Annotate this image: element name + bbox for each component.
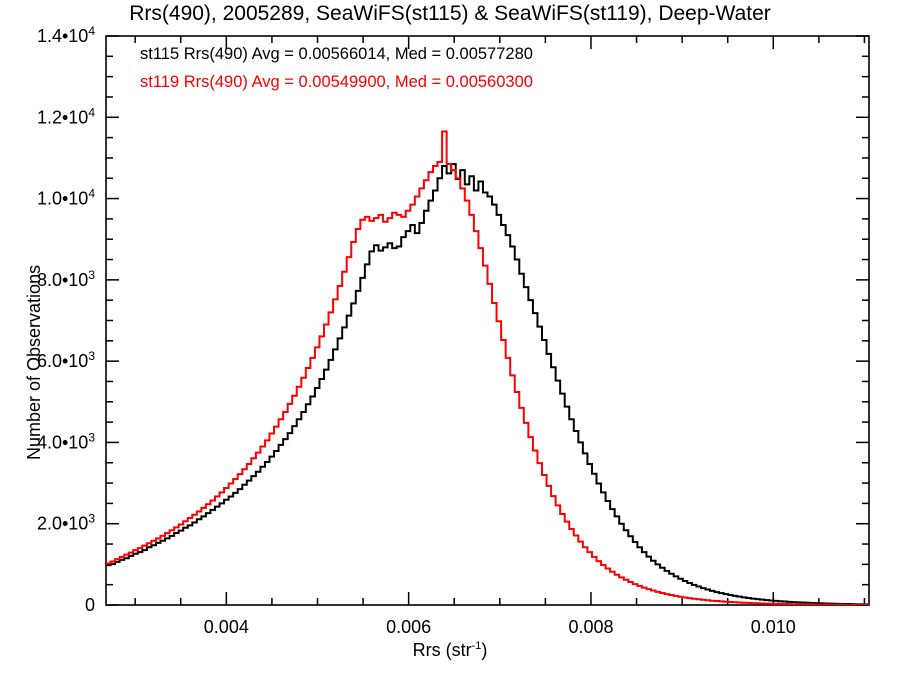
y-axis-ticks <box>106 36 869 605</box>
x-tick-label: 0.004 <box>204 617 249 637</box>
x-axis-tick-labels: 0.0040.0060.0080.010 <box>204 617 796 637</box>
x-tick-label: 0.010 <box>751 617 796 637</box>
x-tick-label: 0.006 <box>386 617 431 637</box>
y-axis-tick-labels: 02.0•1034.0•1036.0•1038.0•1031.0•1041.2•… <box>37 24 95 615</box>
series-line-st115 <box>106 164 869 604</box>
y-tick-label: 1.2•104 <box>37 105 95 127</box>
y-tick-label: 1.4•104 <box>37 24 95 46</box>
y-tick-label: 4.0•103 <box>37 430 95 452</box>
data-series-layer <box>106 132 869 605</box>
axis-frame <box>106 36 869 605</box>
y-tick-label: 8.0•103 <box>37 268 95 290</box>
y-tick-label: 0 <box>85 595 95 615</box>
x-tick-label: 0.008 <box>568 617 613 637</box>
y-tick-label: 6.0•103 <box>37 349 95 371</box>
chart-plot-area: 0.0040.0060.0080.010 02.0•1034.0•1036.0•… <box>0 0 900 675</box>
figure-container: Rrs(490), 2005289, SeaWiFS(st115) & SeaW… <box>0 0 900 675</box>
y-tick-label: 2.0•103 <box>37 512 95 534</box>
y-tick-label: 1.0•104 <box>37 187 95 209</box>
series-line-st119 <box>106 132 869 605</box>
